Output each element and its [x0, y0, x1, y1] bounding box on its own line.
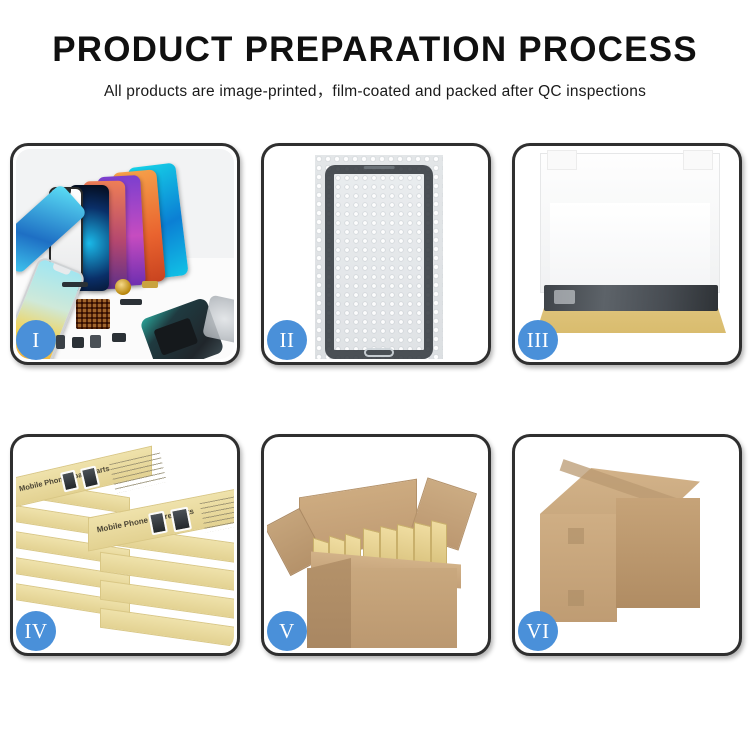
process-step-panel-4: Mobile Phone Spare Parts Mobile Phone Sp…	[10, 434, 240, 656]
step-badge-6: VI	[518, 611, 558, 651]
header: PRODUCT PREPARATION PROCESS All products…	[0, 0, 750, 101]
carton-handle-tab	[568, 590, 584, 606]
step-badge-4: IV	[16, 611, 56, 651]
process-step-panel-5: V	[261, 434, 491, 656]
wrapped-screen-in-box	[544, 285, 718, 311]
vibrator-part	[90, 335, 101, 348]
home-button	[364, 348, 394, 357]
process-step-panel-6: VI	[512, 434, 742, 656]
product-preparation-infographic: PRODUCT PREPARATION PROCESS All products…	[0, 0, 750, 750]
process-step-panel-2: II	[261, 143, 491, 365]
carton-right-face	[616, 498, 700, 608]
foam-padding	[550, 203, 710, 289]
small-connector-part	[56, 335, 65, 349]
camera-module-part	[72, 337, 84, 348]
ribbon-cable-part	[120, 299, 142, 305]
carton-handle-tab	[568, 528, 584, 544]
carton-side-left	[307, 558, 351, 648]
step-badge-5: V	[267, 611, 307, 651]
button-flex-part	[142, 281, 158, 288]
bubble-wrap-sheet	[315, 155, 443, 359]
process-step-panel-3: III	[512, 143, 742, 365]
copper-coil-part	[115, 279, 131, 295]
flex-cable-part	[62, 282, 88, 287]
process-step-panel-1: I	[10, 143, 240, 365]
page-title: PRODUCT PREPARATION PROCESS	[0, 30, 750, 70]
process-step-grid: I II III	[10, 143, 742, 678]
step-badge-3: III	[518, 320, 558, 360]
speaker-mesh-part	[76, 299, 110, 329]
phone-screen-assembly	[325, 165, 433, 359]
step-badge-1: I	[16, 320, 56, 360]
ic-chip-part	[112, 333, 126, 342]
page-subtitle: All products are image-printed，film-coat…	[0, 79, 750, 101]
step-badge-2: II	[267, 320, 307, 360]
